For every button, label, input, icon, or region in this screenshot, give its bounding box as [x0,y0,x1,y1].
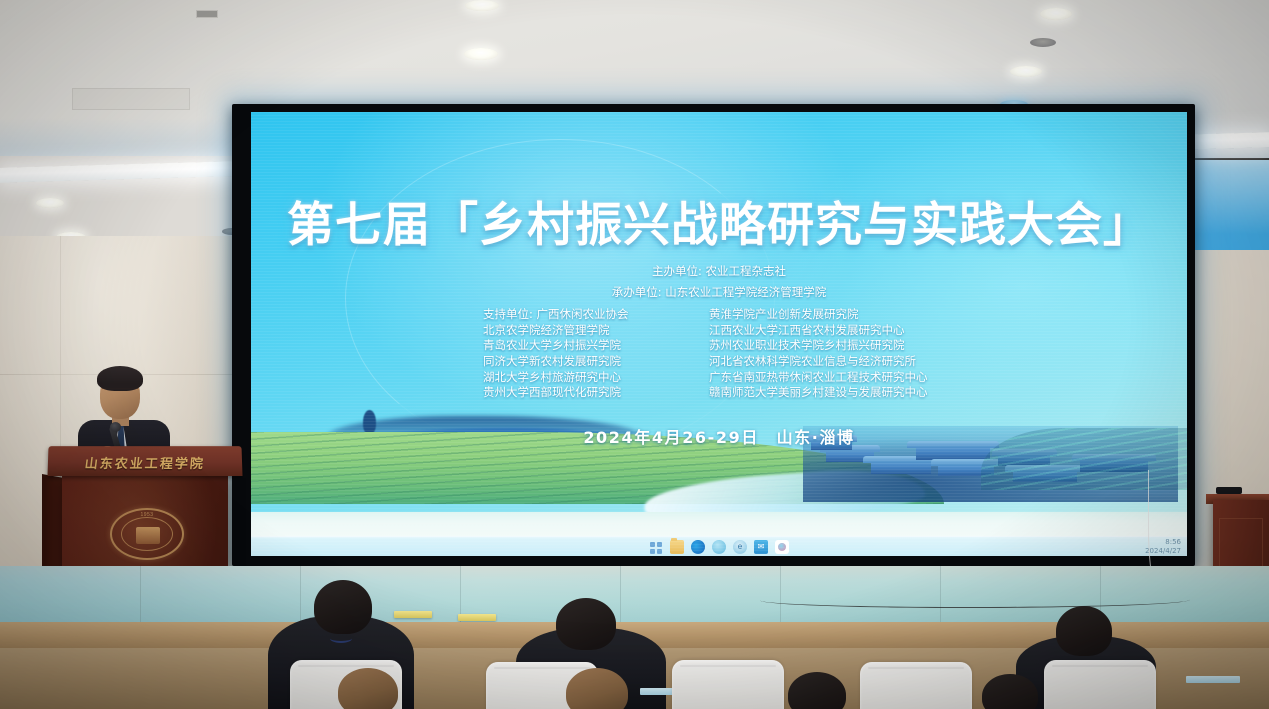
crest-year: 1953 [112,512,182,518]
audience-head [314,580,372,634]
stage-panel-seam [300,566,301,626]
name-placard [394,611,432,618]
support-label: 支持单位: 广西休闲农业协会 [483,307,709,323]
university-crest: 1953 [110,508,184,560]
ceiling-downlight [1010,66,1042,77]
slide-date-location: 2024年4月26-29日 山东·淄博 [251,424,1187,448]
venue-sign-text: 山东农业工程学院 [47,453,243,472]
foreground-haze [251,512,1187,538]
ceiling-downlight-off [1030,38,1056,47]
file-explorer-icon[interactable] [670,540,684,554]
support-right-item: 广东省南亚热带休闲农业工程技术研究中心 [709,370,955,386]
stage-panel-seam [140,566,141,626]
name-placard [458,614,496,621]
host-line: 主办单位: 农业工程杂志社 [251,264,1187,280]
support-left-item: 湖北大学乡村旅游研究中心 [483,370,709,386]
slide-landscape-illustration [251,378,1187,538]
support-right-item: 黄淮学院产业创新发展研究院 [709,307,955,323]
audience-head [338,668,398,709]
support-left-item: 北京农学院经济管理学院 [483,323,709,339]
support-right-item: 河北省农林科学院农业信息与经济研究所 [709,354,955,370]
house-roof [916,446,991,460]
lanyard [330,634,352,643]
mail-icon[interactable]: ✉ [754,540,768,554]
support-left-item: 青岛农业大学乡村振兴学院 [483,338,709,354]
slide-title: 第七届「乡村振兴战略研究与实践大会」 [251,186,1187,255]
audience-chair [1044,660,1156,709]
audience-chair [672,660,784,709]
edge-browser-icon[interactable] [691,540,705,554]
cabinet-device [1216,487,1242,494]
audience-chair [860,662,972,709]
microphone-head-icon [110,422,121,432]
audience-head [1056,606,1112,656]
support-right-item: 江西农业大学江西省农村发展研究中心 [709,323,955,339]
ceiling-downlight [465,0,499,11]
app-icon[interactable] [775,540,789,554]
ceiling-vent [72,88,190,110]
taskbar-icon-group: e ✉ [649,540,789,554]
organizer-line: 承办单位: 山东农业工程学院经济管理学院 [251,285,1187,301]
support-units-grid: 支持单位: 广西休闲农业协会 黄淮学院产业创新发展研究院 北京农学院经济管理学院… [483,307,955,401]
ceiling-downlight [464,48,498,60]
windows-taskbar[interactable]: e ✉ 8:56 2024/4/27 [251,536,1187,556]
support-right-item: 苏州农业职业技术学院乡村振兴研究院 [709,338,955,354]
audience-head [556,598,616,650]
glasses-icon [102,388,138,395]
slide-organizer-block: 主办单位: 农业工程杂志社 承办单位: 山东农业工程学院经济管理学院 支持单位:… [251,264,1187,401]
house-roof [871,461,931,474]
start-icon[interactable] [649,540,663,554]
support-right-item: 赣南师范大学美丽乡村建设与发展研究中心 [709,385,955,401]
audience-head [566,668,628,709]
presentation-screen[interactable]: 第七届「乡村振兴战略研究与实践大会」 主办单位: 农业工程杂志社 承办单位: 山… [251,112,1187,556]
conference-hall-photo: 第七届「乡村振兴战略研究与实践大会」 主办单位: 农业工程杂志社 承办单位: 山… [0,0,1269,709]
desk-edge [1186,676,1240,683]
support-left-item: 同济大学新农村发展研究院 [483,354,709,370]
support-left-item: 贵州大学西部现代化研究院 [483,385,709,401]
podium-lectern-top: 山东农业工程学院 [47,446,242,476]
legacy-browser-icon[interactable]: e [733,540,747,554]
stage-panel-seam [620,566,621,626]
ceiling-downlight [36,198,64,208]
browser-icon[interactable] [712,540,726,554]
ceiling-downlight [1040,8,1072,20]
ceiling-vent [196,10,218,18]
